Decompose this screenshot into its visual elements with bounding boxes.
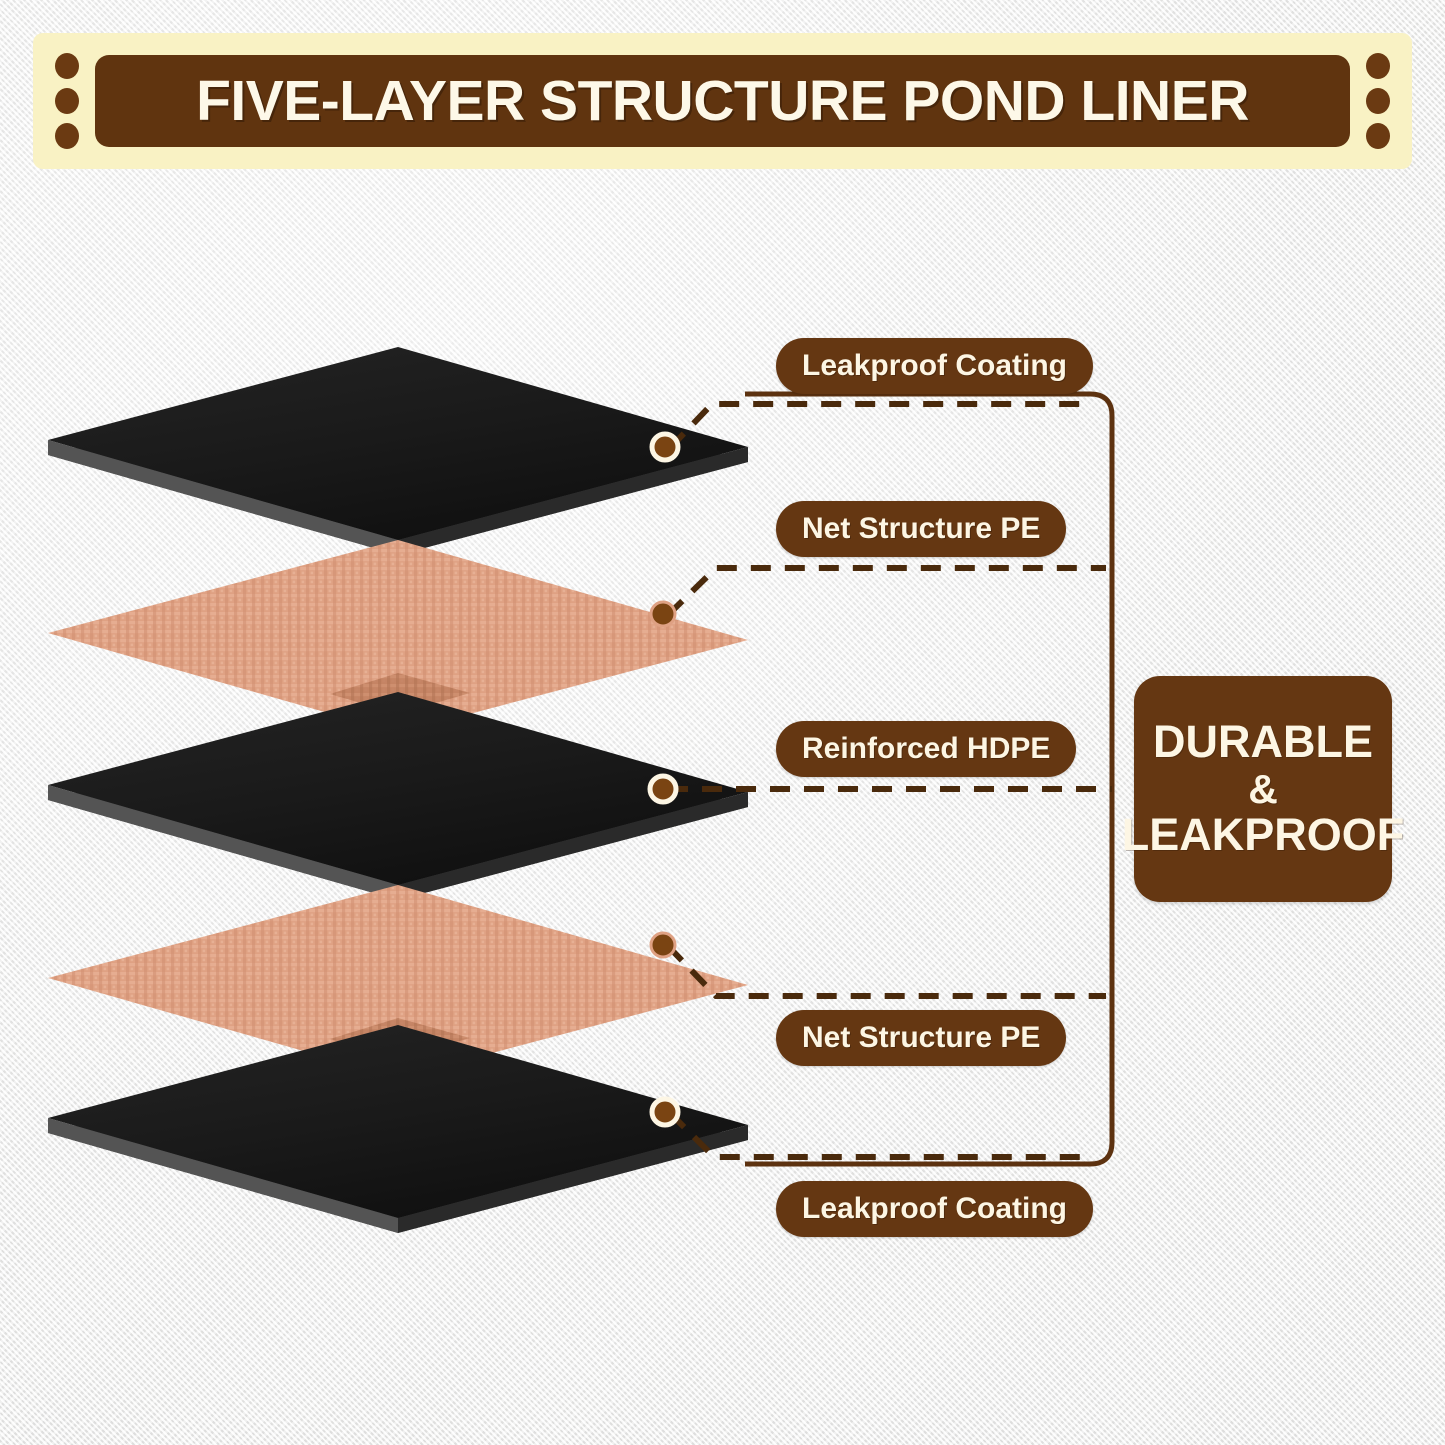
- layer-sheet-3: [48, 692, 748, 900]
- layer-label-4[interactable]: Net Structure PE: [776, 1010, 1066, 1066]
- layer-label-5-text: Leakproof Coating: [802, 1192, 1067, 1226]
- callout-line-1: DURABLE: [1153, 718, 1373, 767]
- layer-label-5[interactable]: Leakproof Coating: [776, 1181, 1093, 1237]
- infographic-poster: FIVE-LAYER STRUCTURE POND LINER: [0, 0, 1445, 1445]
- layer-sheet-5: [48, 1025, 748, 1233]
- layer-label-3[interactable]: Reinforced HDPE: [776, 721, 1076, 777]
- callout-line-2: &: [1248, 767, 1278, 811]
- durable-leakproof-callout[interactable]: DURABLE & LEAKPROOF: [1134, 676, 1392, 902]
- layer-label-4-text: Net Structure PE: [802, 1021, 1040, 1055]
- layer-label-3-text: Reinforced HDPE: [802, 732, 1050, 766]
- layer-label-1-text: Leakproof Coating: [802, 349, 1067, 383]
- callout-line-3: LEAKPROOF: [1122, 811, 1405, 860]
- layer-label-2-text: Net Structure PE: [802, 512, 1040, 546]
- layer-sheet-1: [48, 347, 748, 555]
- layer-label-1[interactable]: Leakproof Coating: [776, 338, 1093, 394]
- layer-label-2[interactable]: Net Structure PE: [776, 501, 1066, 557]
